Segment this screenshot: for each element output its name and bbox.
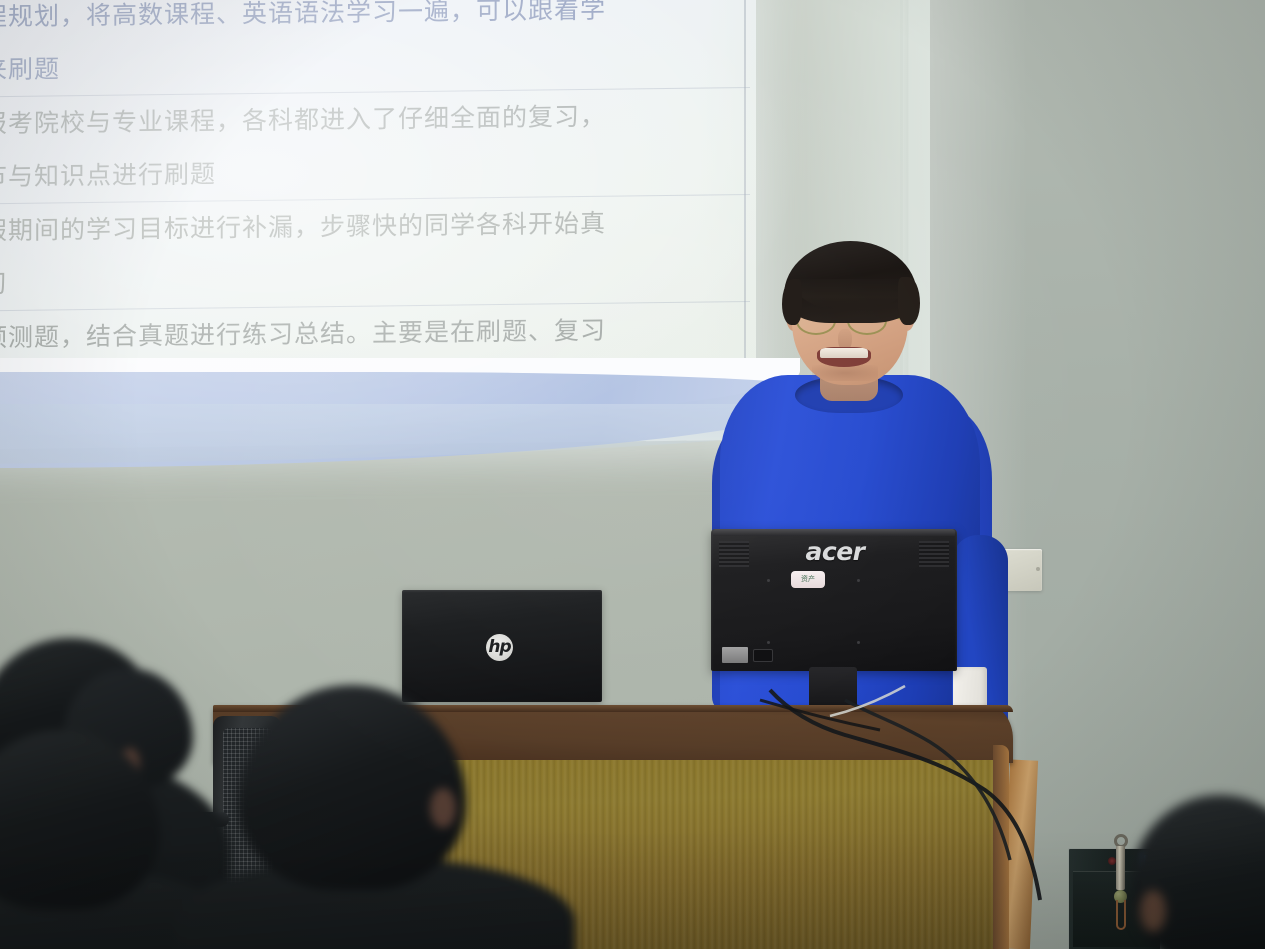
acer-monitor: acer 资产 bbox=[711, 529, 957, 709]
audience-foreground bbox=[0, 620, 560, 949]
presenter-teeth bbox=[820, 348, 868, 358]
monitor-port bbox=[753, 649, 773, 662]
presenter-hair-side-left bbox=[782, 279, 802, 325]
slide-row: 好课程规划，将高数课程、英语语法学习一遍，可以跟着学 课程来刷题 bbox=[0, 0, 750, 98]
slide-row: 人了报考院校与专业课程，各科都进入了仔细全面的复习， 照章节与知识点进行刷题 bbox=[0, 88, 750, 205]
classroom-photo: 好课程规划，将高数课程、英语语法学习一遍，可以跟着学 课程来刷题 人了报考院校与… bbox=[0, 0, 1265, 949]
monitor-screw bbox=[857, 641, 860, 644]
monitor-spec-label bbox=[722, 647, 748, 663]
podium-right-trim bbox=[993, 745, 1009, 949]
monitor-top-bevel bbox=[713, 529, 955, 536]
monitor-vent-left bbox=[719, 541, 749, 567]
audience-head bbox=[238, 685, 466, 890]
slide-line: 的练习 bbox=[0, 248, 742, 311]
slide-line: 照章节与知识点进行刷题 bbox=[0, 141, 742, 204]
presenter-chin-shadow bbox=[812, 365, 878, 381]
monitor-screw bbox=[767, 641, 770, 644]
slide-content: 好课程规划，将高数课程、英语语法学习一遍，可以跟着学 课程来刷题 人了报考院校与… bbox=[0, 0, 750, 391]
audience-right bbox=[1120, 795, 1265, 949]
asset-sticker: 资产 bbox=[791, 571, 825, 588]
cup-print bbox=[957, 678, 983, 700]
audience-ear bbox=[430, 788, 456, 828]
presenter-mouth bbox=[817, 347, 871, 367]
audience-ear bbox=[1140, 890, 1166, 932]
monitor-vent-right bbox=[919, 541, 949, 567]
monitor-screw bbox=[857, 579, 860, 582]
slide-line: 课程来刷题 bbox=[0, 34, 742, 97]
slide-row: 对暑假期间的学习目标进行补漏，步骤快的同学各科开始真 的练习 bbox=[0, 195, 750, 312]
monitor-screw bbox=[767, 579, 770, 582]
acer-logo-icon: acer bbox=[789, 539, 881, 565]
presenter-hair-side-right bbox=[898, 277, 920, 325]
monitor-stand bbox=[809, 667, 857, 709]
